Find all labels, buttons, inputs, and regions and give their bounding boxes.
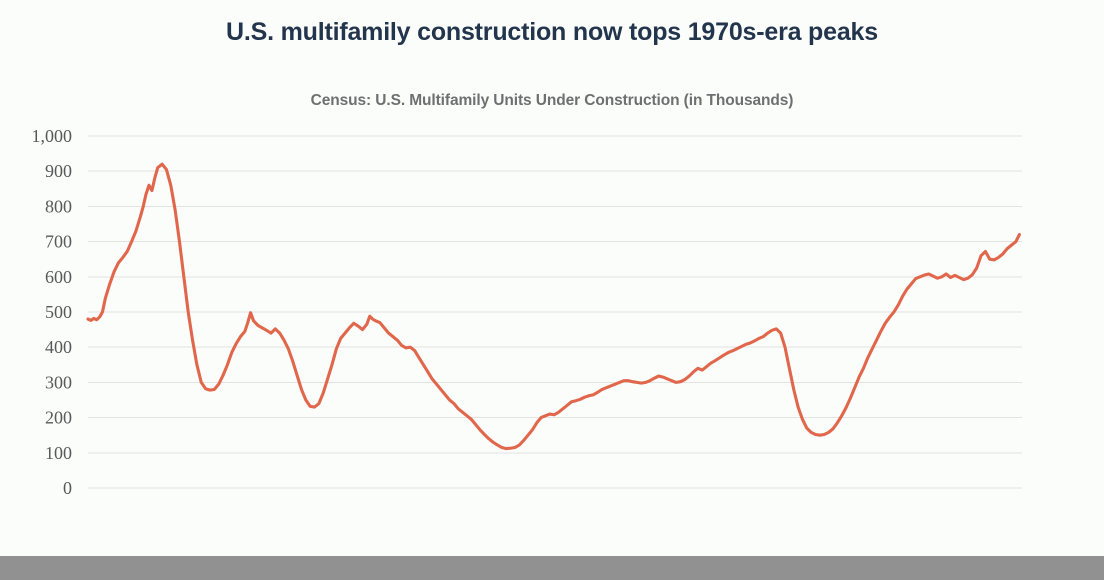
y-axis-tick-label: 900 (45, 161, 72, 181)
gridlines (88, 136, 1022, 488)
y-axis-tick-labels: 01002003004005006007008009001,000 (32, 126, 73, 498)
y-axis-tick-label: 0 (63, 478, 72, 498)
y-axis-tick-label: 700 (45, 232, 72, 252)
y-axis-tick-label: 1,000 (32, 126, 73, 146)
y-axis-tick-label: 300 (45, 372, 72, 392)
bottom-status-bar (0, 556, 1104, 580)
y-axis-tick-label: 500 (45, 302, 72, 322)
chart-container: U.S. multifamily construction now tops 1… (0, 0, 1104, 580)
y-axis-tick-label: 400 (45, 337, 72, 357)
y-axis-tick-label: 200 (45, 408, 72, 428)
y-axis-tick-label: 800 (45, 196, 72, 216)
y-axis-tick-label: 100 (45, 443, 72, 463)
y-axis-tick-label: 600 (45, 267, 72, 287)
line-chart-plot: 01002003004005006007008009001,000 May-70… (0, 0, 1104, 580)
